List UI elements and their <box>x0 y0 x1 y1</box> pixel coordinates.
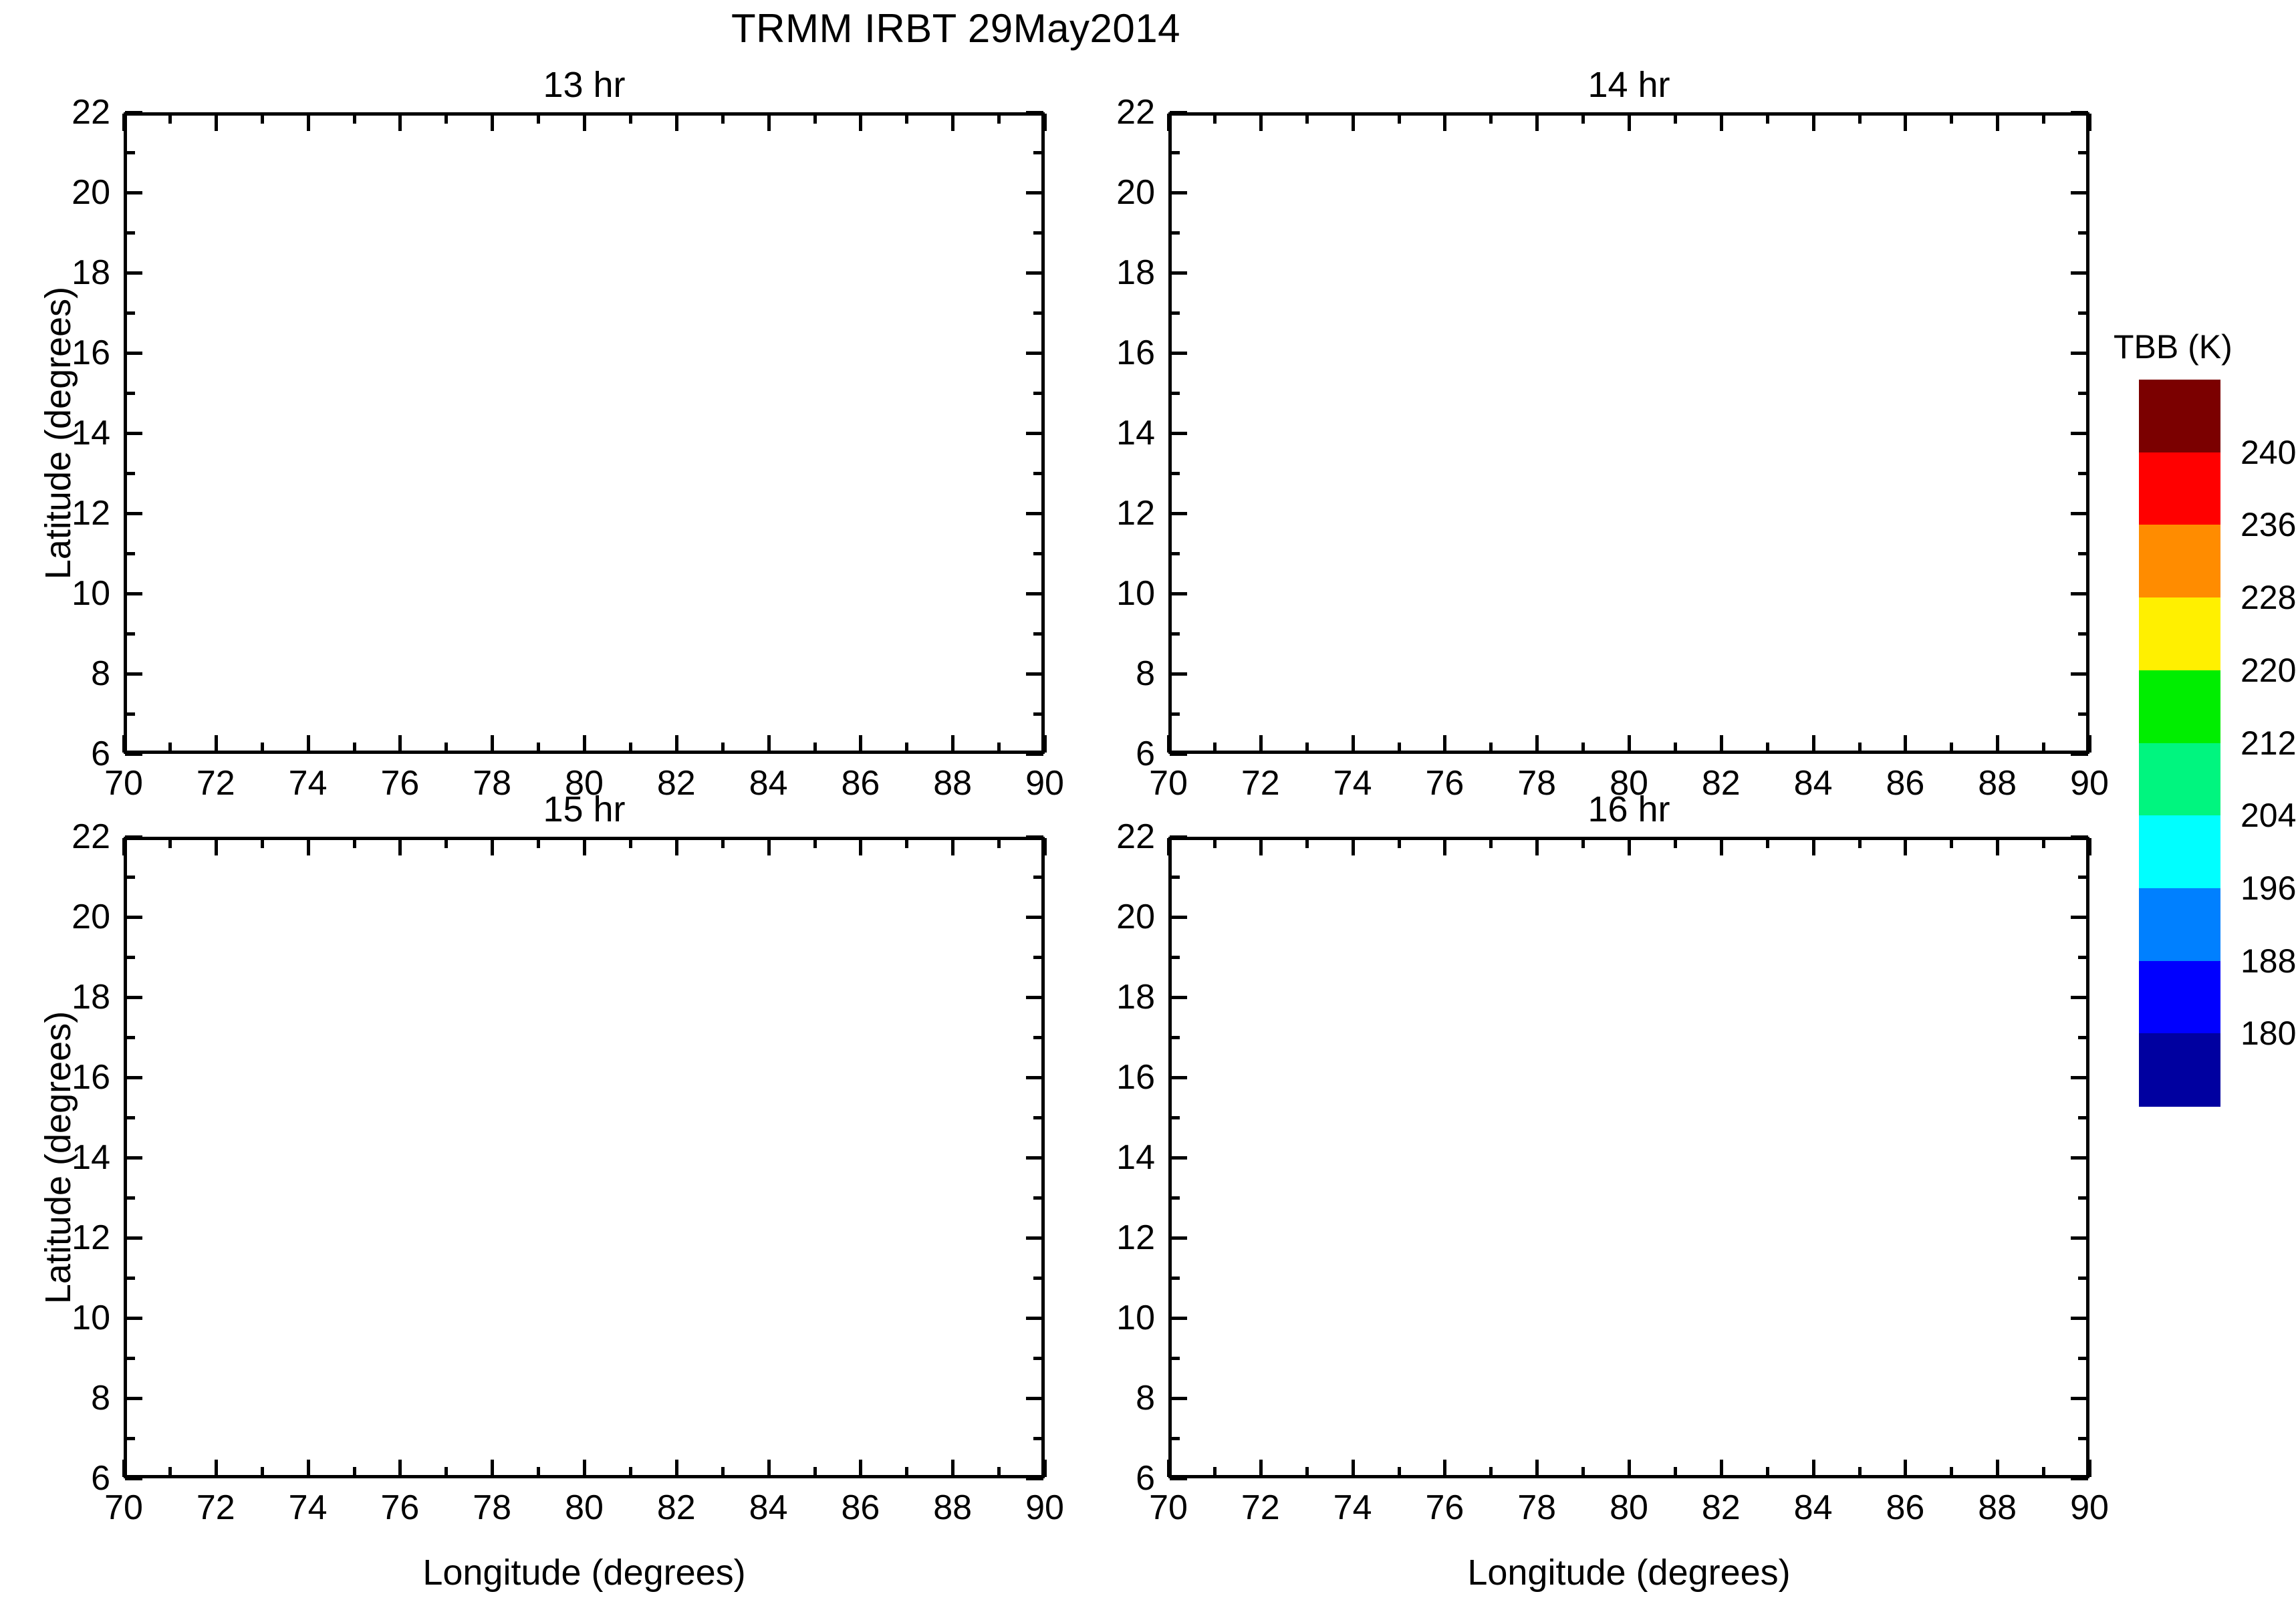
x-tick-minor-top <box>353 114 356 124</box>
y-tick-minor <box>1170 151 1180 154</box>
x-tick-minor <box>2042 743 2045 753</box>
colorbar-tick-label: 196 <box>2241 869 2296 908</box>
colorbar-tick-label: 204 <box>2241 796 2296 835</box>
x-tick-major-top <box>491 838 494 855</box>
y-tick-minor-right <box>1033 876 1043 879</box>
x-tick-minor <box>261 1467 264 1477</box>
y-tick-major <box>1170 1397 1187 1400</box>
colorbar-band <box>2139 815 2220 889</box>
panel-13-hr: 13 hr70727476788082848688906810121416182… <box>124 112 1045 754</box>
x-tick-minor-top <box>261 838 264 848</box>
y-tick-major-right <box>1026 916 1043 919</box>
y-tick-major <box>125 1076 142 1079</box>
x-tick-minor-top <box>905 838 908 848</box>
y-tick-major-right <box>2071 512 2088 515</box>
x-tick-minor-top <box>2042 114 2045 124</box>
x-tick-major <box>491 735 494 753</box>
y-tick-label: 16 <box>1095 333 1155 373</box>
y-tick-minor-right <box>1033 632 1043 636</box>
x-tick-minor <box>1213 1467 1217 1477</box>
y-tick-major-right <box>1026 191 1043 194</box>
x-tick-major-top <box>675 838 678 855</box>
x-tick-major <box>1535 1460 1539 1477</box>
x-tick-major <box>398 1460 402 1477</box>
y-tick-label: 6 <box>50 1458 110 1498</box>
y-tick-major <box>125 835 142 839</box>
y-tick-label: 20 <box>50 897 110 937</box>
x-tick-major <box>1167 735 1170 753</box>
x-tick-minor-top <box>444 114 448 124</box>
y-tick-major <box>125 191 142 194</box>
y-tick-minor-right <box>1033 1036 1043 1039</box>
x-tick-major-top <box>1535 114 1539 131</box>
x-tick-label: 86 <box>841 1488 880 1528</box>
x-tick-major <box>122 1460 126 1477</box>
panel-title: 15 hr <box>124 789 1045 830</box>
y-tick-minor <box>125 1196 135 1200</box>
x-tick-label: 80 <box>565 1488 604 1528</box>
y-tick-minor <box>125 151 135 154</box>
x-tick-major <box>859 735 862 753</box>
y-tick-label: 14 <box>1095 413 1155 453</box>
y-tick-label: 22 <box>1095 817 1155 857</box>
y-tick-minor-right <box>2078 392 2088 395</box>
y-tick-minor <box>1170 712 1180 716</box>
x-tick-major <box>1720 735 1723 753</box>
x-tick-major-top <box>398 114 402 131</box>
y-tick-major <box>125 512 142 515</box>
panel-14-hr: 14 hr70727476788082848688906810121416182… <box>1168 112 2089 754</box>
y-tick-major <box>1170 672 1187 676</box>
colorbar-band <box>2139 743 2220 817</box>
y-tick-minor <box>125 311 135 315</box>
y-tick-minor-right <box>2078 231 2088 235</box>
x-tick-major <box>767 735 771 753</box>
x-tick-major-top <box>1443 114 1446 131</box>
x-tick-minor <box>444 743 448 753</box>
x-axis-title-left: Longitude (degrees) <box>124 1552 1045 1593</box>
y-tick-major-right <box>2071 1477 2088 1480</box>
y-tick-major-right <box>2071 672 2088 676</box>
x-tick-minor <box>261 743 264 753</box>
x-tick-minor <box>537 1467 540 1477</box>
colorbar-band <box>2139 1033 2220 1107</box>
y-tick-label: 6 <box>50 734 110 774</box>
panel-title: 14 hr <box>1168 64 2089 106</box>
x-tick-minor-top <box>997 114 1001 124</box>
x-tick-major-top <box>583 838 586 855</box>
y-tick-minor-right <box>2078 552 2088 555</box>
colorbar-tick-label: 180 <box>2241 1014 2296 1053</box>
y-tick-major <box>125 592 142 595</box>
x-tick-major-top <box>1043 114 1047 131</box>
y-tick-major <box>1170 352 1187 355</box>
x-tick-major-top <box>951 114 954 131</box>
x-tick-minor <box>721 743 725 753</box>
y-tick-label: 20 <box>1095 172 1155 213</box>
x-tick-minor <box>1950 1467 1953 1477</box>
y-tick-minor-right <box>2078 1116 2088 1119</box>
y-tick-label: 8 <box>1095 1378 1155 1418</box>
x-tick-minor <box>1581 743 1585 753</box>
y-tick-minor-right <box>1033 1116 1043 1119</box>
x-tick-minor-top <box>261 114 264 124</box>
panel-title: 16 hr <box>1168 789 2089 830</box>
x-tick-major <box>1043 735 1047 753</box>
x-tick-minor-top <box>1766 838 1769 848</box>
y-tick-major-right <box>1026 271 1043 275</box>
y-tick-major <box>1170 996 1187 999</box>
y-tick-major <box>1170 271 1187 275</box>
x-tick-minor-top <box>721 838 725 848</box>
x-tick-minor <box>629 743 632 753</box>
x-tick-minor-top <box>1766 114 1769 124</box>
y-tick-minor-right <box>2078 1196 2088 1200</box>
x-tick-minor <box>1213 743 1217 753</box>
y-tick-major <box>1170 1236 1187 1240</box>
x-tick-major-top <box>1812 114 1815 131</box>
x-tick-minor-top <box>1581 838 1585 848</box>
colorbar-band <box>2139 597 2220 671</box>
y-tick-label: 12 <box>1095 493 1155 533</box>
x-tick-major-top <box>1043 838 1047 855</box>
figure-root: TRMM IRBT 29May2014 13 hr707274767880828… <box>0 0 2296 1610</box>
y-tick-minor-right <box>2078 876 2088 879</box>
x-tick-minor-top <box>1489 114 1493 124</box>
x-tick-major-top <box>1259 838 1263 855</box>
x-tick-major-top <box>1167 838 1170 855</box>
y-tick-minor-right <box>1033 392 1043 395</box>
y-tick-minor <box>125 472 135 475</box>
y-tick-major <box>125 111 142 114</box>
colorbar-tick-label: 240 <box>2241 433 2296 472</box>
x-tick-minor <box>997 743 1001 753</box>
y-tick-minor-right <box>1033 231 1043 235</box>
x-tick-minor <box>1766 1467 1769 1477</box>
y-tick-major-right <box>2071 916 2088 919</box>
y-tick-major-right <box>1026 1236 1043 1240</box>
x-tick-major-top <box>1904 838 1907 855</box>
y-tick-major-right <box>2071 271 2088 275</box>
x-tick-major-top <box>2088 114 2091 131</box>
x-tick-major <box>1352 1460 1355 1477</box>
x-tick-major-top <box>1720 114 1723 131</box>
x-tick-minor-top <box>444 838 448 848</box>
y-tick-minor <box>1170 876 1180 879</box>
x-tick-major <box>951 735 954 753</box>
figure-title: TRMM IRBT 29May2014 <box>0 5 1912 51</box>
x-tick-minor <box>721 1467 725 1477</box>
x-tick-major <box>307 1460 310 1477</box>
x-tick-major <box>122 735 126 753</box>
y-tick-major <box>125 271 142 275</box>
colorbar-band <box>2139 888 2220 962</box>
panel-frame <box>124 837 1045 1478</box>
y-tick-minor <box>1170 472 1180 475</box>
colorbar-band <box>2139 961 2220 1035</box>
x-tick-minor <box>1674 743 1677 753</box>
x-tick-major-top <box>1443 838 1446 855</box>
x-tick-minor-top <box>1305 838 1309 848</box>
x-tick-label: 88 <box>1978 1488 2017 1528</box>
x-tick-major <box>1259 735 1263 753</box>
y-tick-minor <box>125 1277 135 1280</box>
y-tick-major <box>1170 191 1187 194</box>
y-tick-major <box>1170 432 1187 435</box>
y-tick-minor-right <box>1033 1437 1043 1440</box>
x-tick-minor-top <box>353 838 356 848</box>
x-tick-minor-top <box>1858 114 1862 124</box>
x-tick-minor-top <box>1950 114 1953 124</box>
y-tick-major <box>1170 835 1187 839</box>
panel-title: 13 hr <box>124 64 1045 106</box>
x-tick-label: 82 <box>657 1488 696 1528</box>
y-tick-minor <box>125 1437 135 1440</box>
y-tick-minor <box>1170 1277 1180 1280</box>
x-tick-major-top <box>951 838 954 855</box>
y-tick-label: 8 <box>50 1378 110 1418</box>
panel-frame <box>1168 112 2089 754</box>
x-tick-minor-top <box>1858 838 1862 848</box>
y-tick-minor-right <box>2078 956 2088 959</box>
x-tick-major-top <box>122 838 126 855</box>
y-tick-label: 22 <box>50 92 110 132</box>
y-tick-minor-right <box>2078 1277 2088 1280</box>
x-tick-minor <box>1398 1467 1401 1477</box>
y-tick-major-right <box>1026 835 1043 839</box>
x-tick-major <box>951 1460 954 1477</box>
y-tick-major <box>1170 1156 1187 1160</box>
x-tick-major-top <box>2088 838 2091 855</box>
y-tick-minor <box>1170 956 1180 959</box>
y-tick-label: 22 <box>1095 92 1155 132</box>
y-tick-major <box>125 916 142 919</box>
y-tick-minor <box>125 1357 135 1360</box>
y-tick-label: 10 <box>1095 1298 1155 1338</box>
x-tick-major <box>675 735 678 753</box>
y-tick-label: 8 <box>50 654 110 694</box>
x-tick-major <box>859 1460 862 1477</box>
x-tick-major-top <box>1352 838 1355 855</box>
y-tick-major <box>125 996 142 999</box>
x-tick-minor-top <box>997 838 1001 848</box>
y-tick-minor-right <box>1033 956 1043 959</box>
y-tick-label: 14 <box>1095 1137 1155 1178</box>
y-tick-minor <box>125 956 135 959</box>
x-tick-label: 78 <box>1517 1488 1556 1528</box>
panel-16-hr: 16 hr70727476788082848688906810121416182… <box>1168 837 2089 1478</box>
y-tick-major <box>125 1397 142 1400</box>
y-tick-major-right <box>2071 592 2088 595</box>
x-tick-label: 84 <box>1794 1488 1833 1528</box>
x-tick-major-top <box>122 114 126 131</box>
x-tick-minor-top <box>629 838 632 848</box>
x-tick-minor-top <box>1674 114 1677 124</box>
x-tick-label: 88 <box>933 1488 972 1528</box>
x-tick-label: 72 <box>197 1488 235 1528</box>
y-tick-minor <box>1170 1437 1180 1440</box>
y-tick-minor <box>125 1116 135 1119</box>
x-tick-minor <box>997 1467 1001 1477</box>
x-tick-minor-top <box>1213 114 1217 124</box>
y-tick-major-right <box>1026 1477 1043 1480</box>
x-tick-major <box>1812 1460 1815 1477</box>
x-tick-major <box>1720 1460 1723 1477</box>
y-tick-minor <box>125 632 135 636</box>
colorbar-bands <box>2139 380 2220 1106</box>
x-tick-minor <box>2042 1467 2045 1477</box>
y-tick-minor <box>125 1036 135 1039</box>
y-tick-major <box>1170 1076 1187 1079</box>
x-tick-major <box>1628 735 1631 753</box>
y-tick-major <box>1170 753 1187 756</box>
x-tick-major-top <box>1720 838 1723 855</box>
x-tick-major-top <box>859 114 862 131</box>
x-tick-minor <box>1858 743 1862 753</box>
x-tick-major-top <box>491 114 494 131</box>
y-tick-minor-right <box>2078 311 2088 315</box>
x-tick-major <box>1904 735 1907 753</box>
y-tick-major <box>1170 1317 1187 1320</box>
x-tick-major <box>491 1460 494 1477</box>
x-tick-minor-top <box>1581 114 1585 124</box>
x-tick-major <box>215 735 218 753</box>
x-tick-major <box>1812 735 1815 753</box>
y-tick-minor <box>1170 552 1180 555</box>
y-tick-minor <box>125 392 135 395</box>
y-tick-major-right <box>2071 432 2088 435</box>
x-tick-minor <box>905 1467 908 1477</box>
x-tick-major-top <box>398 838 402 855</box>
x-tick-major-top <box>1167 114 1170 131</box>
y-tick-minor-right <box>1033 1277 1043 1280</box>
y-tick-major-right <box>1026 111 1043 114</box>
y-tick-minor <box>1170 1036 1180 1039</box>
x-tick-minor-top <box>1398 838 1401 848</box>
x-tick-major <box>583 1460 586 1477</box>
x-tick-major-top <box>1352 114 1355 131</box>
x-tick-minor <box>353 1467 356 1477</box>
x-tick-minor <box>1950 743 1953 753</box>
x-tick-minor-top <box>1305 114 1309 124</box>
y-tick-minor-right <box>2078 151 2088 154</box>
y-tick-major-right <box>2071 352 2088 355</box>
y-tick-major-right <box>1026 1397 1043 1400</box>
x-tick-major <box>1628 1460 1631 1477</box>
x-tick-major <box>2088 735 2091 753</box>
y-tick-minor-right <box>1033 712 1043 716</box>
colorbar-tick-label: 236 <box>2241 505 2296 544</box>
y-tick-label: 8 <box>1095 654 1155 694</box>
x-tick-major <box>2088 1460 2091 1477</box>
x-tick-major-top <box>583 114 586 131</box>
y-tick-major-right <box>1026 352 1043 355</box>
x-tick-major <box>1996 735 1999 753</box>
x-tick-minor <box>1305 743 1309 753</box>
x-tick-major-top <box>1996 838 1999 855</box>
colorbar-band <box>2139 525 2220 598</box>
x-tick-major-top <box>1904 114 1907 131</box>
y-tick-label: 6 <box>1095 1458 1155 1498</box>
x-tick-major-top <box>1628 838 1631 855</box>
x-tick-major-top <box>1996 114 1999 131</box>
colorbar-band <box>2139 670 2220 744</box>
x-axis-title-right: Longitude (degrees) <box>1168 1552 2089 1593</box>
y-tick-major-right <box>1026 1156 1043 1160</box>
y-tick-minor-right <box>1033 151 1043 154</box>
x-tick-label: 72 <box>1241 1488 1280 1528</box>
y-tick-major-right <box>1026 1076 1043 1079</box>
y-tick-major-right <box>2071 1236 2088 1240</box>
x-tick-label: 90 <box>2070 1488 2109 1528</box>
x-tick-minor <box>1489 1467 1493 1477</box>
x-tick-minor <box>444 1467 448 1477</box>
y-tick-major <box>1170 1477 1187 1480</box>
x-tick-major <box>1904 1460 1907 1477</box>
x-tick-label: 76 <box>1425 1488 1464 1528</box>
y-tick-major-right <box>2071 835 2088 839</box>
x-tick-major <box>1167 1460 1170 1477</box>
y-tick-major-right <box>2071 191 2088 194</box>
x-tick-label: 82 <box>1702 1488 1741 1528</box>
y-tick-major <box>125 1156 142 1160</box>
x-tick-label: 74 <box>1333 1488 1372 1528</box>
y-tick-major-right <box>2071 753 2088 756</box>
x-tick-minor <box>905 743 908 753</box>
x-tick-minor <box>1398 743 1401 753</box>
x-tick-label: 76 <box>380 1488 419 1528</box>
x-tick-minor <box>168 743 172 753</box>
x-tick-minor-top <box>813 838 817 848</box>
x-tick-major-top <box>859 838 862 855</box>
y-tick-minor-right <box>1033 472 1043 475</box>
x-tick-minor <box>168 1467 172 1477</box>
y-tick-label: 10 <box>1095 573 1155 614</box>
x-tick-major-top <box>1628 114 1631 131</box>
y-axis-title-bottom: Latitude (degrees) <box>37 1011 79 1304</box>
colorbar-band <box>2139 452 2220 526</box>
x-tick-major-top <box>1259 114 1263 131</box>
x-tick-minor <box>1858 1467 1862 1477</box>
x-tick-major-top <box>307 114 310 131</box>
y-tick-major <box>1170 592 1187 595</box>
colorbar-tick-label: 212 <box>2241 724 2296 763</box>
x-tick-label: 78 <box>473 1488 511 1528</box>
x-tick-minor-top <box>813 114 817 124</box>
x-tick-minor-top <box>905 114 908 124</box>
y-tick-major <box>125 1317 142 1320</box>
y-tick-major <box>125 432 142 435</box>
x-tick-major-top <box>767 838 771 855</box>
x-tick-major <box>1535 735 1539 753</box>
y-tick-minor-right <box>1033 1357 1043 1360</box>
y-tick-major <box>125 352 142 355</box>
y-tick-major <box>125 1236 142 1240</box>
x-tick-minor-top <box>1213 838 1217 848</box>
x-tick-minor <box>353 743 356 753</box>
y-tick-label: 18 <box>1095 977 1155 1017</box>
panel-frame <box>1168 837 2089 1478</box>
y-tick-major-right <box>2071 1317 2088 1320</box>
colorbar-band <box>2139 380 2220 453</box>
x-tick-minor-top <box>168 838 172 848</box>
x-tick-major <box>1352 735 1355 753</box>
x-tick-major-top <box>307 838 310 855</box>
x-tick-minor-top <box>537 838 540 848</box>
x-tick-major <box>675 1460 678 1477</box>
colorbar-title: TBB (K) <box>2114 327 2233 366</box>
y-tick-major-right <box>1026 753 1043 756</box>
